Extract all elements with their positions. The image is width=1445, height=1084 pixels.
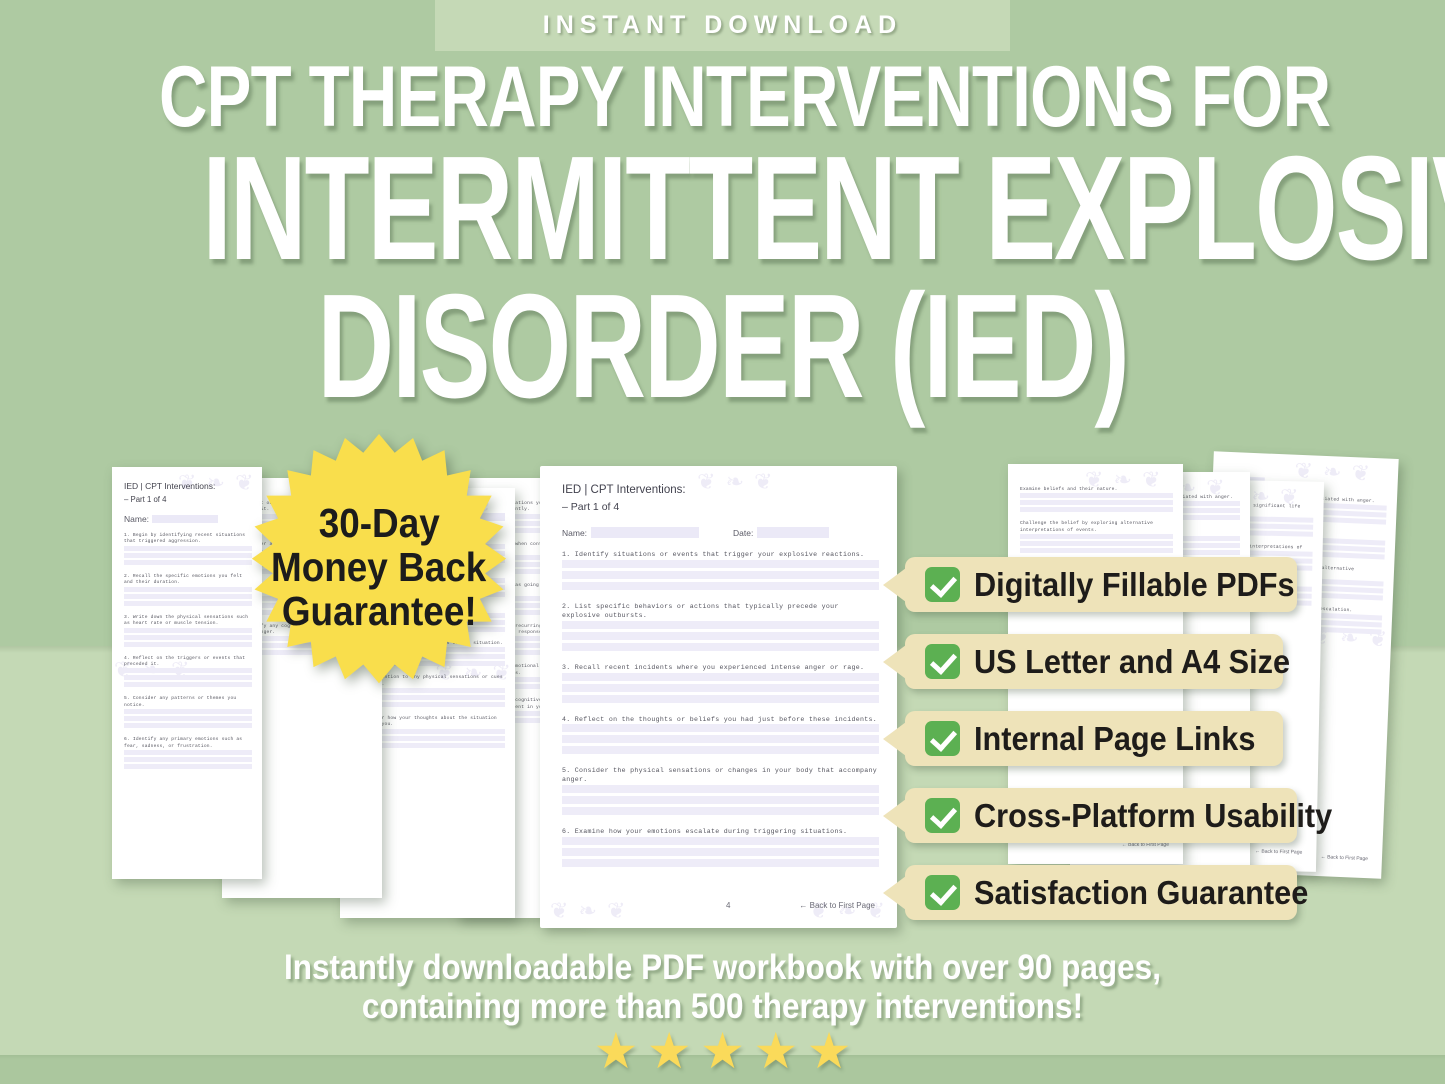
check-icon [925,567,960,602]
worksheet-question: 6. Identify any primary emotions such as… [124,737,252,750]
tagline-line-1: Instantly downloadable PDF workbook with… [72,948,1373,987]
check-icon [925,875,960,910]
back-to-first-page-link[interactable]: ← Back to First Page [1255,849,1302,856]
star-icon: ★ [753,1026,798,1076]
feature-callout-satisfaction-guarantee: Satisfaction Guarantee [905,865,1297,920]
star-icon: ★ [594,1026,639,1076]
feature-label: Internal Page Links [974,720,1255,758]
worksheet-title: IED | CPT Interventions: [562,484,879,496]
name-label: Name: [562,528,587,538]
worksheet-title: IED | CPT Interventions: [124,481,252,491]
feature-callout-digitally-fillable-pdfs: Digitally Fillable PDFs [905,557,1297,612]
feature-label: Digitally Fillable PDFs [974,566,1295,604]
badge-line-3: Guarantee! [282,591,477,633]
worksheet-subtitle: – Part 1 of 4 [562,501,879,513]
worksheet-question: 5. Consider the physical sensations or c… [562,767,879,785]
date-label: Date: [733,528,753,538]
worksheet-question: 1. Begin by identifying recent situation… [124,533,252,546]
instant-download-label: INSTANT DOWNLOAD [543,11,902,40]
check-icon [925,721,960,756]
feature-callout-us-letter-and-a4-size: US Letter and A4 Size [905,634,1283,689]
tagline-line-2: containing more than 500 therapy interve… [72,987,1373,1026]
worksheet-page-center: ❦ ❧ ❦ ❦ ❧ ❦ ❦ ❧ ❦ IED | CPT Intervention… [540,466,897,928]
worksheet-question: 3. Write down the physical sensations su… [124,615,252,628]
star-icon: ★ [647,1026,692,1076]
star-icon: ★ [700,1026,745,1076]
tagline: Instantly downloadable PDF workbook with… [0,948,1445,1026]
feature-label: Satisfaction Guarantee [974,874,1308,912]
name-label: Name: [124,514,149,524]
worksheet-question: 4. Reflect on the thoughts or beliefs yo… [562,716,879,725]
feature-callout-internal-page-links: Internal Page Links [905,711,1283,766]
check-icon [925,798,960,833]
instant-download-banner: INSTANT DOWNLOAD [435,0,1010,51]
worksheet-question: 2. Recall the specific emotions you felt… [124,574,252,587]
worksheet-question: 1. Identify situations or events that tr… [562,551,879,560]
worksheet-page-left-1: ❦ ❧ ❦ ❦ ❧ ❦ IED | CPT Interventions: – P… [112,467,262,879]
feature-label: Cross-Platform Usability [974,797,1332,835]
star-rating: ★ ★ ★ ★ ★ [0,1026,1445,1076]
worksheet-subtitle: – Part 1 of 4 [124,495,252,504]
headline-line-3: DISORDER (IED) [202,279,1242,415]
feature-callout-cross-platform-usability: Cross-Platform Usability [905,788,1297,843]
worksheet-question: Challenge the belief by exploring altern… [1020,521,1173,534]
date-input[interactable] [757,527,829,538]
worksheet-question: 3. Recall recent incidents where you exp… [562,664,879,673]
back-to-first-page-link[interactable]: ← Back to First Page [1321,854,1368,862]
headline-line-2: INTERMITTENT EXPLOSIVE [202,141,1242,277]
feature-label: US Letter and A4 Size [974,643,1290,681]
badge-line-2: Money Back [271,547,486,589]
back-to-first-page-link[interactable]: ← Back to First Page [799,901,875,910]
page-title: CPT THERAPY INTERVENTIONS FOR INTERMITTE… [0,58,1445,415]
promo-graphic: INSTANT DOWNLOAD CPT THERAPY INTERVENTIO… [0,0,1445,1084]
worksheet-question: 2. List specific behaviors or actions th… [562,603,879,621]
page-number: 4 [726,901,730,910]
badge-line-1: 30-Day [318,503,439,545]
check-icon [925,644,960,679]
money-back-guarantee-badge: 30-Day Money Back Guarantee! [248,434,510,702]
worksheet-question: 6. Examine how your emotions escalate du… [562,828,879,837]
name-input[interactable] [591,527,699,538]
worksheet-question: 4. Reflect on the triggers or events tha… [124,656,252,669]
worksheet-question: 5. Consider any patterns or themes you n… [124,696,252,709]
star-icon: ★ [807,1026,852,1076]
